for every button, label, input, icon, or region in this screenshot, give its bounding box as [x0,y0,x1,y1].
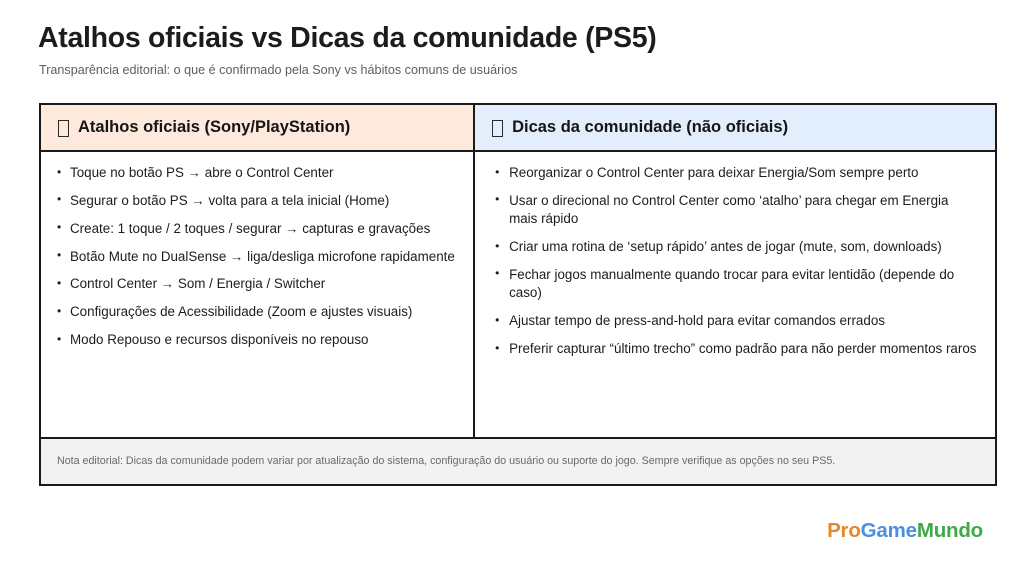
column-official: Atalhos oficiais (Sony/PlayStation) Toqu… [41,105,475,437]
editorial-note-row: Nota editorial: Dicas da comunidade pode… [41,437,995,484]
list-item: Toque no botão PS → abre o Control Cente… [55,164,459,182]
brand-part-pro: Pro [827,519,861,542]
list-item: Usar o direcional no Control Center como… [493,192,977,229]
list-item: Criar uma rotina de ‘setup rápido’ antes… [493,238,977,256]
list-item: Create: 1 toque / 2 toques / segurar → c… [55,220,459,238]
list-item: Reorganizar o Control Center para deixar… [493,164,977,182]
table-columns: Atalhos oficiais (Sony/PlayStation) Toqu… [41,105,995,437]
column-header-community: Dicas da comunidade (não oficiais) [475,105,995,152]
missing-glyph-box-icon [492,120,503,137]
list-item: Control Center → Som / Energia / Switche… [55,275,459,293]
comparison-table: Atalhos oficiais (Sony/PlayStation) Toqu… [39,103,997,486]
column-header-community-label: Dicas da comunidade (não oficiais) [512,118,788,137]
column-community: Dicas da comunidade (não oficiais) Reorg… [475,105,995,437]
editorial-note-text: Nota editorial: Dicas da comunidade pode… [57,455,835,468]
column-body-community: Reorganizar o Control Center para deixar… [475,152,995,437]
list-item: Configurações de Acessibilidade (Zoom e … [55,303,459,321]
slide-canvas: Atalhos oficiais vs Dicas da comunidade … [0,0,1024,576]
brand-logo: ProGameMundo [827,519,983,543]
list-item: Ajustar tempo de press-and-hold para evi… [493,312,977,330]
missing-glyph-box-icon [58,120,69,137]
list-item: Preferir capturar “último trecho” como p… [493,340,977,358]
list-item: Botão Mute no DualSense → liga/desliga m… [55,248,459,266]
list-item: Segurar o botão PS → volta para a tela i… [55,192,459,210]
column-header-official: Atalhos oficiais (Sony/PlayStation) [41,105,473,152]
list-item: Modo Repouso e recursos disponíveis no r… [55,331,459,349]
brand-part-game: Game [861,519,917,542]
official-list: Toque no botão PS → abre o Control Cente… [55,164,459,350]
brand-part-mundo: Mundo [917,519,983,542]
page-subtitle: Transparência editorial: o que é confirm… [39,63,517,78]
page-title: Atalhos oficiais vs Dicas da comunidade … [38,23,656,54]
column-header-official-label: Atalhos oficiais (Sony/PlayStation) [78,118,350,137]
list-item: Fechar jogos manualmente quando trocar p… [493,266,977,303]
community-list: Reorganizar o Control Center para deixar… [493,164,977,358]
column-body-official: Toque no botão PS → abre o Control Cente… [41,152,473,437]
